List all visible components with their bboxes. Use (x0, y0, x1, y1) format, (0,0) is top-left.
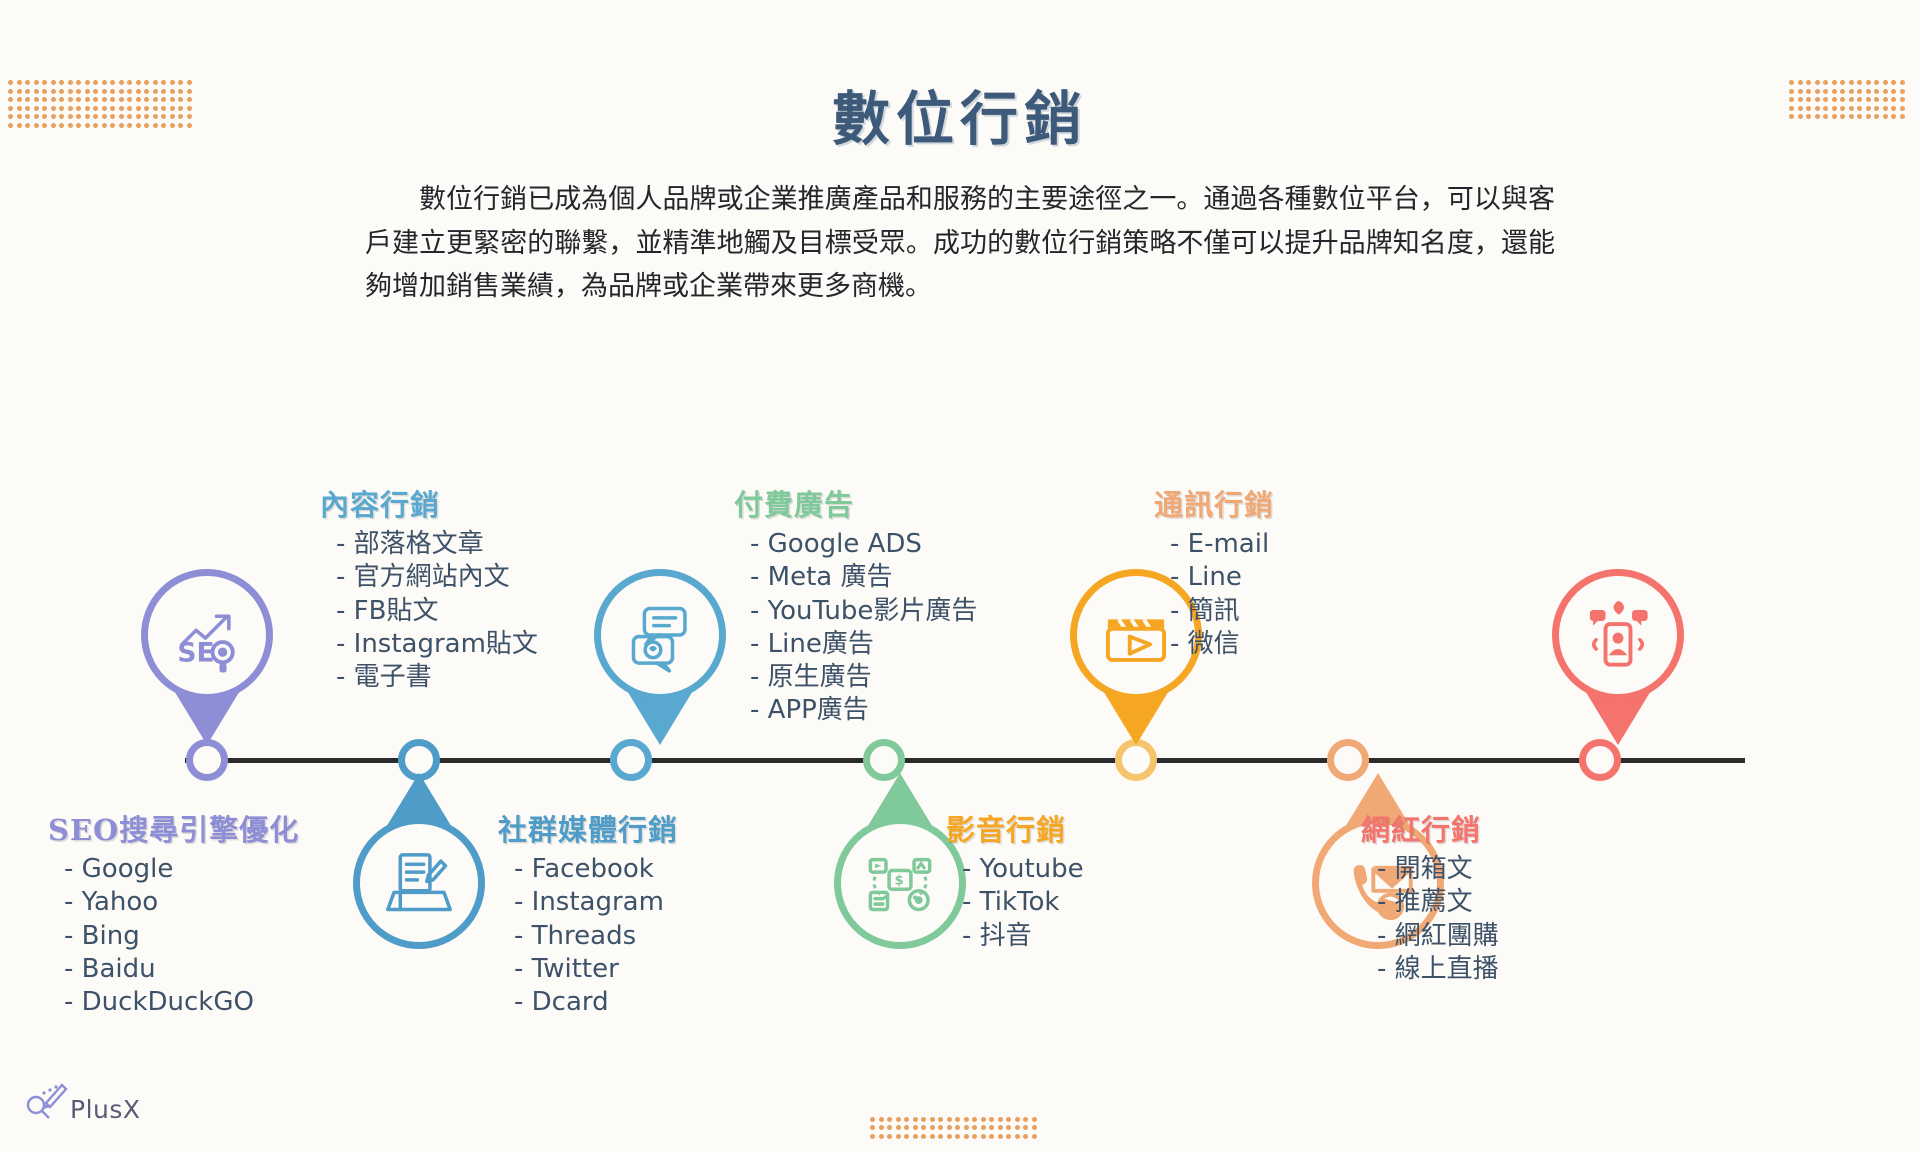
node-comm (1327, 739, 1369, 781)
node-seo (186, 739, 228, 781)
list-item: Yahoo (64, 886, 340, 919)
phone-hearts-icon (1552, 569, 1684, 701)
section-paid: 付費廣告Google ADSMeta 廣告YouTube影片廣告Line廣告原生… (722, 482, 1022, 728)
list-item: Bing (64, 920, 340, 953)
dot-pattern-top-right (1789, 80, 1908, 123)
list-item: 微信 (1170, 628, 1440, 661)
section-list-seo: GoogleYahooBingBaiduDuckDuckGO (64, 853, 340, 1019)
section-content: 內容行銷部落格文章官方網站內文FB貼文Instagram貼文電子書 (300, 482, 600, 694)
section-title-seo: SEO搜尋引擎優化 (48, 807, 340, 849)
section-title-video: 影音行銷 (946, 807, 1230, 849)
timeline-axis (185, 758, 1745, 763)
list-item: Google ADS (750, 528, 1022, 561)
pin-social-tail (626, 689, 694, 745)
list-item: Twitter (514, 953, 788, 986)
list-item: DuckDuckGO (64, 986, 340, 1019)
list-item: 開箱文 (1377, 853, 1645, 886)
list-item: TikTok (962, 886, 1230, 919)
list-item: 線上直播 (1377, 953, 1645, 986)
logo-text: PlusX (70, 1095, 141, 1124)
section-list-content: 部落格文章官方網站內文FB貼文Instagram貼文電子書 (336, 528, 600, 694)
list-item: FB貼文 (336, 595, 600, 628)
list-item: 推薦文 (1377, 886, 1645, 919)
list-item: 電子書 (336, 661, 600, 694)
section-video: 影音行銷YoutubeTikTok抖音 (930, 807, 1230, 953)
list-item: Dcard (514, 986, 788, 1019)
list-item: Line (1170, 561, 1440, 594)
pin-social[interactable] (594, 569, 726, 701)
dot-pattern-bottom-center (870, 1117, 1040, 1143)
magnifier-pencil-icon (22, 1073, 68, 1124)
list-item: 網紅團購 (1377, 920, 1645, 953)
page-title: 數位行銷 (0, 72, 1920, 156)
list-item: 官方網站內文 (336, 561, 600, 594)
list-item: Threads (514, 920, 788, 953)
svg-text:SE: SE (177, 638, 214, 669)
section-list-comm: E-mailLine簡訊微信 (1170, 528, 1440, 661)
pin-influencer-tail (1584, 689, 1652, 745)
section-comm: 通訊行銷E-mailLine簡訊微信 (1140, 482, 1440, 661)
section-seo: SEO搜尋引擎優化GoogleYahooBingBaiduDuckDuckGO (40, 807, 340, 1019)
section-social: 社群媒體行銷FacebookInstagramThreadsTwitterDca… (488, 807, 788, 1019)
pin-video-tail (1102, 689, 1170, 745)
list-item: 部落格文章 (336, 528, 600, 561)
section-title-comm: 通訊行銷 (1154, 482, 1440, 524)
node-content (398, 739, 440, 781)
brand-logo: PlusX (22, 1073, 141, 1124)
section-list-video: YoutubeTikTok抖音 (962, 853, 1230, 953)
section-list-social: FacebookInstagramThreadsTwitterDcard (514, 853, 788, 1019)
node-video (1115, 739, 1157, 781)
list-item: Meta 廣告 (750, 561, 1022, 594)
list-item: 簡訊 (1170, 595, 1440, 628)
section-title-paid: 付費廣告 (734, 482, 1022, 524)
list-item: 抖音 (962, 920, 1230, 953)
intro-paragraph: 數位行銷已成為個人品牌或企業推廣產品和服務的主要途徑之一。通過各種數位平台，可以… (365, 178, 1555, 309)
list-item: Instagram貼文 (336, 628, 600, 661)
seo-chart-icon: SE (141, 569, 273, 701)
section-title-content: 內容行銷 (320, 482, 600, 524)
node-paid (863, 739, 905, 781)
laptop-document-icon (353, 817, 485, 949)
pin-content[interactable] (353, 817, 485, 949)
list-item: APP廣告 (750, 694, 1022, 727)
dot-pattern-top-left (8, 80, 195, 131)
list-item: Baidu (64, 953, 340, 986)
list-item: Youtube (962, 853, 1230, 886)
svg-text:$: $ (895, 874, 904, 889)
pin-seo-tail (173, 689, 241, 745)
list-item: Instagram (514, 886, 788, 919)
section-title-social: 社群媒體行銷 (498, 807, 788, 849)
pin-content-tail (385, 773, 453, 829)
list-item: E-mail (1170, 528, 1440, 561)
node-influencer (1579, 739, 1621, 781)
list-item: 原生廣告 (750, 661, 1022, 694)
chat-bubbles-icon (594, 569, 726, 701)
section-influencer: 網紅行銷開箱文推薦文網紅團購線上直播 (1345, 807, 1645, 986)
section-title-influencer: 網紅行銷 (1361, 807, 1645, 849)
list-item: Line廣告 (750, 628, 1022, 661)
list-item: YouTube影片廣告 (750, 595, 1022, 628)
list-item: Google (64, 853, 340, 886)
pin-influencer[interactable] (1552, 569, 1684, 701)
pin-paid-tail (866, 773, 934, 829)
section-list-paid: Google ADSMeta 廣告YouTube影片廣告Line廣告原生廣告AP… (750, 528, 1022, 728)
section-list-influencer: 開箱文推薦文網紅團購線上直播 (1377, 853, 1645, 986)
pin-seo[interactable]: SE (141, 569, 273, 701)
list-item: Facebook (514, 853, 788, 886)
node-social (610, 739, 652, 781)
